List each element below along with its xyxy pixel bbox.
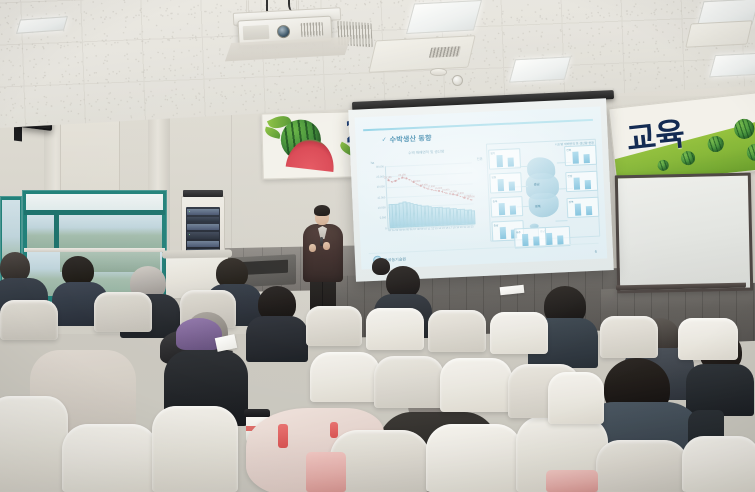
- chart-y-tick-label: 25,000: [371, 175, 384, 179]
- chair-front-2[interactable]: [62, 424, 158, 492]
- coffee-cup-lid: [244, 409, 270, 417]
- chart-data-point: [445, 192, 447, 194]
- region-mini-bar: [533, 236, 539, 245]
- sprinkler-head: [452, 75, 463, 86]
- watermelon-wedge-small: [325, 127, 343, 139]
- audience-beanie-purple: [176, 318, 222, 350]
- chart-area: 수박 재배면적 및 생산량 ha 천톤 30,00025,00020,00015…: [370, 148, 486, 245]
- region-mini-bar: [575, 203, 582, 215]
- chair-row-mid-5[interactable]: [600, 316, 658, 358]
- region-mini-bar: [572, 151, 579, 163]
- chart-y-tick-label: 15,000: [372, 196, 385, 200]
- chart-x-tick-label: '23: [470, 225, 474, 228]
- chair-row2-3[interactable]: [440, 358, 512, 412]
- projector-vent: [301, 22, 324, 37]
- region-mini-bar: [499, 203, 506, 215]
- presenter-hair: [314, 205, 330, 216]
- region-mini-bar: [574, 177, 581, 189]
- presenter-hand-right: [323, 242, 330, 250]
- ac-unit: [368, 35, 475, 73]
- slide-title-row: ✓ 수박생산 동향: [381, 133, 431, 145]
- ceiling-light-1: [406, 0, 482, 34]
- chart-data-label: 24,100: [398, 173, 405, 176]
- region-card-title: 충남: [494, 223, 499, 227]
- region-mini-bar: [500, 227, 507, 239]
- region-card: 경기: [488, 148, 521, 169]
- region-mini-bar: [508, 157, 514, 166]
- region-mini-bar: [522, 234, 529, 246]
- region-card-title: 전남: [567, 173, 572, 177]
- seat-cushion-red-2: [330, 422, 338, 438]
- rack-unit-1: [187, 209, 219, 215]
- handout-paper-2[interactable]: [215, 334, 237, 352]
- smoke-detector: [430, 68, 447, 76]
- slide-title: 수박생산 동향: [389, 133, 431, 145]
- region-card: 전남: [565, 171, 598, 192]
- chart-data-point: [402, 177, 404, 179]
- window-glass-transom: [26, 194, 163, 210]
- lecture-hall-photo: 교육 202 ✓ 수박생산 동향 수박 재배면적 및 생산량 ha 천톤: [0, 0, 755, 492]
- ceiling-light-2: [509, 56, 571, 82]
- audience-torso-5: [246, 316, 308, 362]
- whiteboard[interactable]: [615, 173, 753, 294]
- projection-screen: ✓ 수박생산 동향 수박 재배면적 및 생산량 ha 천톤 30,00025,0…: [348, 98, 614, 282]
- chair-row2-2[interactable]: [374, 356, 444, 408]
- region-card-title: 충북: [492, 199, 497, 203]
- rack-unit-4: [187, 232, 219, 239]
- projector-lens: [277, 25, 291, 39]
- region-card-title: 제주: [516, 230, 521, 234]
- chart-title: 수박 재배면적 및 생산량: [370, 148, 482, 158]
- chart-y-tick-label: 5,000: [373, 217, 386, 221]
- chart-ylabel: ha: [371, 161, 375, 165]
- chair-front-5[interactable]: [426, 424, 522, 492]
- map-label-south: 경북: [535, 203, 541, 208]
- region-mini-bar: [586, 206, 592, 215]
- seat-cushion-pink-1: [306, 452, 346, 492]
- seat-cushion-pink-2: [546, 470, 598, 492]
- audience-torso-10: [686, 364, 754, 416]
- chart-data-point: [387, 180, 389, 182]
- ac-unit-right: [685, 20, 753, 48]
- chart-data-point: [395, 180, 397, 182]
- av-rack-top-device: [183, 190, 223, 197]
- check-icon: ✓: [382, 137, 387, 143]
- chair-row-mid-6[interactable]: [678, 318, 738, 360]
- chair-front-3[interactable]: [152, 406, 238, 492]
- chair-row-mid-3[interactable]: [428, 310, 486, 352]
- chair-back-2[interactable]: [94, 292, 152, 332]
- projector-front-panel: [243, 25, 270, 40]
- region-card: 전북: [564, 145, 597, 166]
- region-card: 충북: [490, 196, 523, 217]
- chair-front-7[interactable]: [596, 440, 688, 492]
- chart-plot-area: 23,10024,10020,60018,90017,60016,90015,8…: [385, 162, 475, 229]
- region-card-title: 강원: [491, 175, 496, 179]
- seat-cushion-red-1: [278, 424, 288, 448]
- chart-y-tick-label: 30,000: [371, 165, 384, 169]
- chart-data-label: 11,900: [467, 195, 474, 198]
- chart-data-point: [405, 177, 407, 179]
- region-card: 경북: [566, 197, 599, 218]
- region-mini-bar: [585, 180, 591, 189]
- slide-footer-divider: [369, 243, 599, 254]
- chart-y2label: 천톤: [477, 156, 483, 161]
- microphone: [320, 237, 323, 246]
- map-panel: 시도별 재배면적 및 생산량 현황 경기강원충북충남전북전남경북경남제주 충남 …: [486, 139, 600, 242]
- ac-vent: [429, 46, 461, 58]
- chart-data-point: [391, 181, 393, 183]
- chair-row-mid-1[interactable]: [306, 306, 362, 346]
- presentation-slide: ✓ 수박생산 동향 수박 재배면적 및 생산량 ha 천톤 30,00025,0…: [355, 107, 608, 270]
- region-mini-bar: [498, 179, 505, 191]
- region-card-title: 경기: [490, 151, 495, 155]
- chart-y-tick-label: 20,000: [372, 186, 385, 190]
- leaf-icon-2: [264, 127, 282, 139]
- banner-right: 교육: [608, 92, 755, 186]
- map-label-central: 충남: [534, 181, 540, 186]
- region-mini-bar: [546, 233, 553, 245]
- chair-back-1[interactable]: [0, 300, 58, 340]
- rack-unit-3: [187, 224, 219, 230]
- lectern-top: [162, 249, 232, 258]
- presenter-hand-left: [309, 244, 316, 252]
- rack-unit-2: [187, 217, 219, 222]
- chart-data-point: [438, 190, 440, 192]
- region-card: 강원: [489, 172, 522, 193]
- region-card-title: 경북: [569, 199, 574, 203]
- region-mini-bar: [583, 154, 589, 163]
- region-mini-bar: [510, 205, 516, 214]
- chart-y-tick-label: 10,000: [373, 206, 386, 210]
- chart-y-tick-label: 0: [374, 227, 387, 231]
- chart-data-label: 23,100: [384, 176, 391, 179]
- region-mini-bar: [496, 155, 503, 167]
- ceiling-light-4: [709, 53, 755, 78]
- chair-row2-5[interactable]: [548, 372, 604, 424]
- chair-row-mid-4[interactable]: [490, 312, 548, 354]
- region-card-title: 전북: [566, 147, 571, 151]
- slide-accent-bar: [363, 119, 593, 131]
- chair-front-8[interactable]: [682, 436, 755, 492]
- banner-right-text: 교육: [625, 117, 686, 155]
- region-mini-bar: [509, 181, 515, 190]
- region-mini-bar: [557, 235, 563, 244]
- chair-front-1[interactable]: [0, 396, 68, 492]
- rack-unit-5: [187, 241, 219, 247]
- audience-head-7: [372, 258, 390, 275]
- window-glass-upper: [27, 215, 162, 248]
- chair-row-mid-2[interactable]: [366, 308, 424, 350]
- chair-row2-1[interactable]: [310, 352, 380, 402]
- slide-page-number: 6: [595, 249, 597, 254]
